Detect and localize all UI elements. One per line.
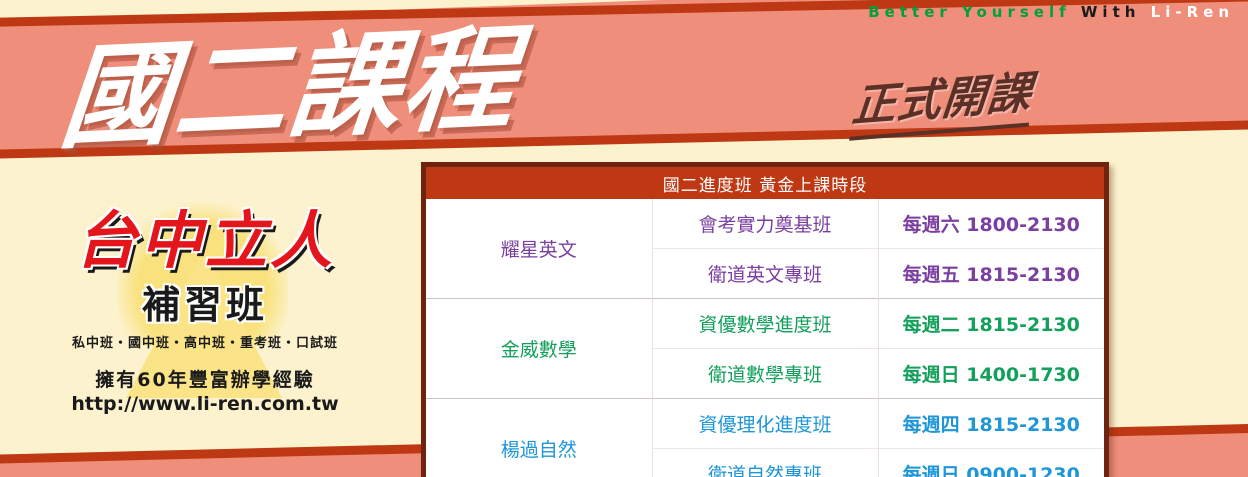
course-name-cell: 衛道數學專班 <box>652 349 878 399</box>
subject-cell: 耀星英文 <box>426 199 652 299</box>
schedule-table-title: 國二進度班 黃金上課時段 <box>426 167 1104 199</box>
schedule-table-body: 耀星英文會考實力奠基班每週六 1800-2130衛道英文專班每週五 1815-2… <box>426 199 1104 477</box>
course-time-cell: 每週二 1815-2130 <box>878 299 1104 349</box>
page-subtitle: 正式開課 <box>849 56 1035 141</box>
page-title: 國二課程 <box>55 0 526 171</box>
course-time-cell: 每週日 1400-1730 <box>878 349 1104 399</box>
course-name-cell: 衛道英文專班 <box>652 249 878 299</box>
subject-cell: 楊過自然 <box>426 399 652 477</box>
school-logo: 台中立人 補習班 私中班・國中班・高中班・重考班・口試班 擁有60年豐富辦學經驗… <box>30 196 380 422</box>
schedule-table-container: 國二進度班 黃金上課時段 耀星英文會考實力奠基班每週六 1800-2130衛道英… <box>421 162 1109 477</box>
table-row: 楊過自然資優理化進度班每週四 1815-2130 <box>426 399 1104 449</box>
logo-school-subtitle: 補習班 <box>30 274 380 329</box>
table-header-row: 國二進度班 黃金上課時段 <box>426 167 1104 199</box>
logo-class-list: 私中班・國中班・高中班・重考班・口試班 <box>30 332 380 351</box>
logo-experience-text: 擁有60年豐富辦學經驗 <box>30 365 380 392</box>
table-row: 金威數學資優數學進度班每週二 1815-2130 <box>426 299 1104 349</box>
course-name-cell: 資優理化進度班 <box>652 399 878 449</box>
headline-area: 國二課程 正式開課 <box>0 0 1248 160</box>
course-time-cell: 每週四 1815-2130 <box>878 399 1104 449</box>
promo-banner: Better Yourself With Li-Ren 國二課程 正式開課 台中… <box>0 0 1248 477</box>
subject-cell: 金威數學 <box>426 299 652 399</box>
schedule-table: 國二進度班 黃金上課時段 耀星英文會考實力奠基班每週六 1800-2130衛道英… <box>426 167 1104 477</box>
course-name-cell: 資優數學進度班 <box>652 299 878 349</box>
course-time-cell: 每週日 0900-1230 <box>878 449 1104 477</box>
schedule-table-head: 國二進度班 黃金上課時段 <box>426 167 1104 199</box>
course-name-cell: 衛道自然專班 <box>652 449 878 477</box>
course-time-cell: 每週五 1815-2130 <box>878 249 1104 299</box>
table-row: 耀星英文會考實力奠基班每週六 1800-2130 <box>426 199 1104 249</box>
logo-website-url[interactable]: http://www.li-ren.com.tw <box>30 393 380 415</box>
course-time-cell: 每週六 1800-2130 <box>878 199 1104 249</box>
course-name-cell: 會考實力奠基班 <box>652 199 878 249</box>
logo-school-name: 台中立人 <box>30 196 380 272</box>
